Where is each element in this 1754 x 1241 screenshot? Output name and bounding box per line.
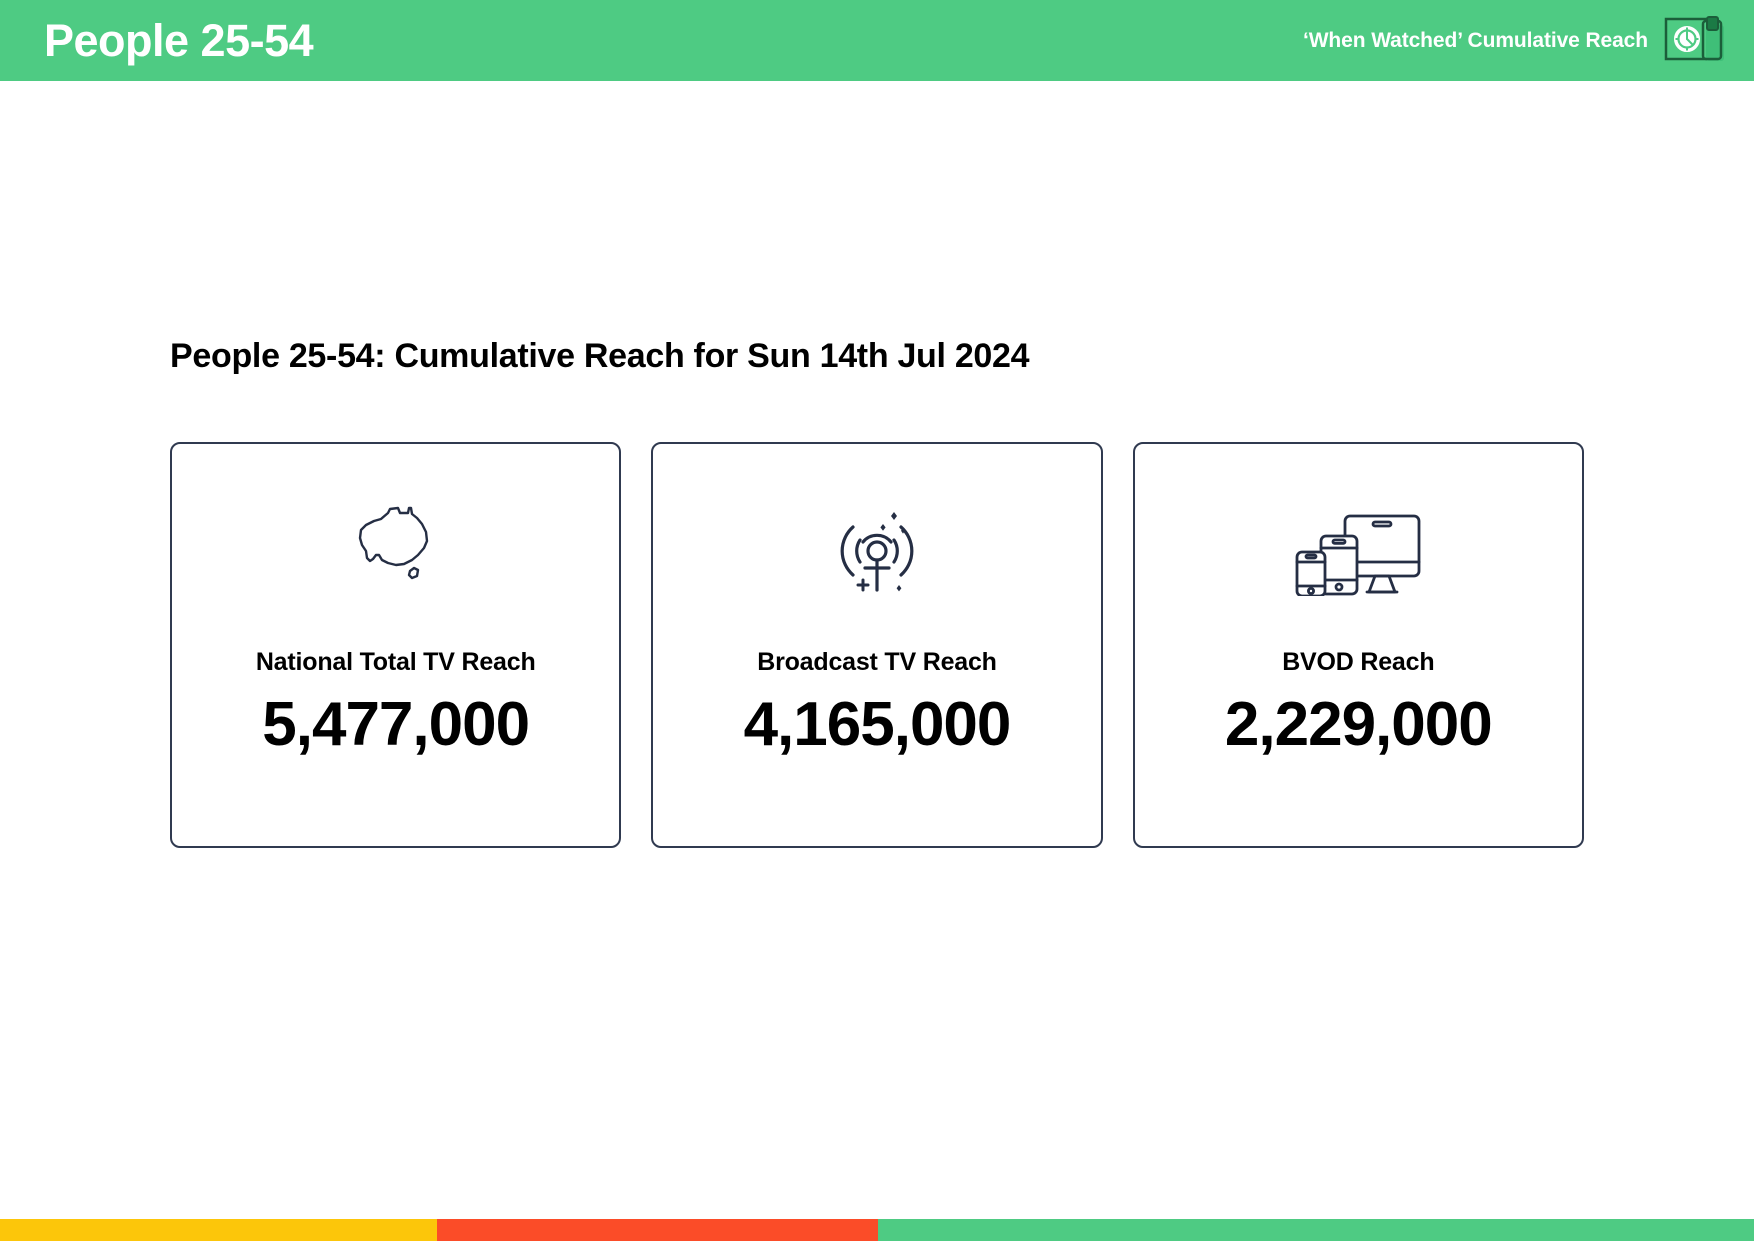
stat-cards-row: National Total TV Reach 5,477,000 <box>170 442 1584 848</box>
stat-card-label: Broadcast TV Reach <box>757 648 997 677</box>
australia-map-icon <box>346 502 446 598</box>
header-right-group: ‘When Watched’ Cumulative Reach <box>1303 11 1734 71</box>
footer-color-bar <box>0 1219 1754 1241</box>
devices-icon <box>1293 502 1423 598</box>
content-title: People 25-54: Cumulative Reach for Sun 1… <box>170 337 1029 376</box>
stat-card-label: BVOD Reach <box>1282 648 1434 677</box>
broadcast-antenna-icon <box>827 502 927 598</box>
stat-card-bvod-reach: BVOD Reach 2,229,000 <box>1133 442 1584 848</box>
header-band: People 25-54 ‘When Watched’ Cumulative R… <box>0 0 1754 81</box>
stat-card-broadcast-tv-reach: Broadcast TV Reach 4,165,000 <box>651 442 1102 848</box>
tv-clock-mobile-logo-icon <box>1662 11 1734 71</box>
page-title: People 25-54 <box>44 18 313 63</box>
footer-yellow-segment <box>0 1219 437 1241</box>
header-subtitle: ‘When Watched’ Cumulative Reach <box>1303 29 1648 53</box>
stat-card-value: 4,165,000 <box>744 691 1011 759</box>
stat-card-national-total-tv-reach: National Total TV Reach 5,477,000 <box>170 442 621 848</box>
footer-orange-segment <box>437 1219 878 1241</box>
stat-card-label: National Total TV Reach <box>256 648 536 677</box>
stat-card-value: 5,477,000 <box>262 691 529 759</box>
footer-green-segment <box>878 1219 1754 1241</box>
slide-root: People 25-54 ‘When Watched’ Cumulative R… <box>0 0 1754 1241</box>
stat-card-value: 2,229,000 <box>1225 691 1492 759</box>
